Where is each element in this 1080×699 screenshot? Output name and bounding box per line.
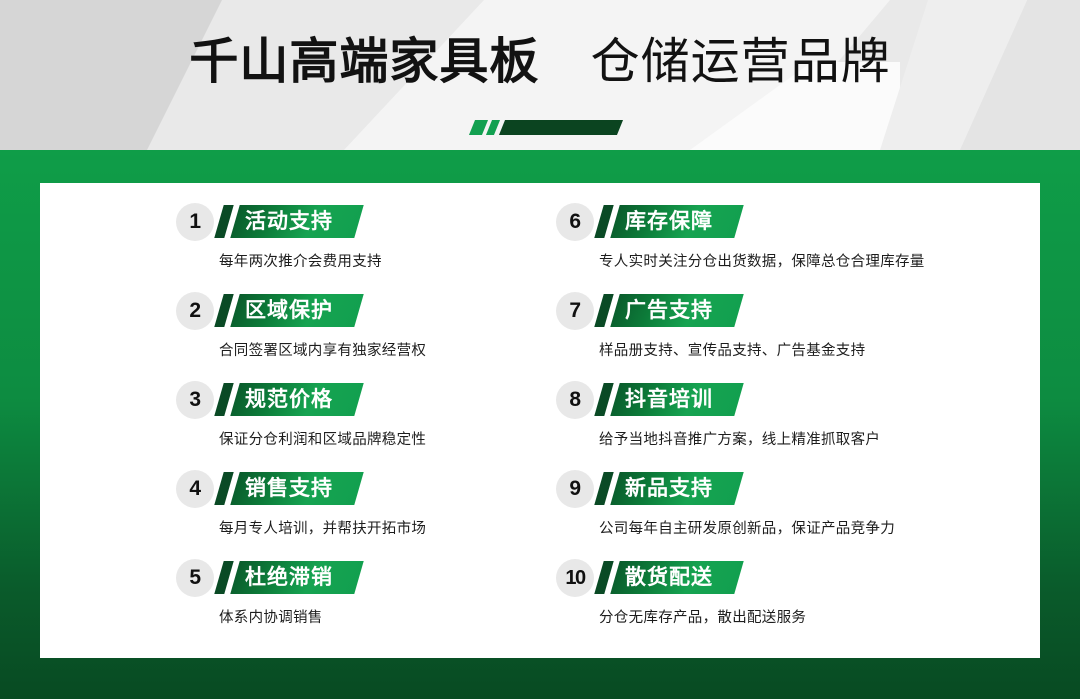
item-number-badge: 1 bbox=[176, 203, 214, 241]
list-item-header: 4 销售支持 bbox=[176, 470, 576, 512]
item-description: 专人实时关注分仓出货数据，保障总仓合理库存量 bbox=[599, 250, 925, 271]
list-item[interactable]: 1 活动支持 每年两次推介会费用支持 bbox=[176, 203, 576, 292]
list-item[interactable]: 3 规范价格 保证分仓利润和区域品牌稳定性 bbox=[176, 381, 576, 470]
list-item-header: 1 活动支持 bbox=[176, 203, 576, 245]
item-description: 给予当地抖音推广方案，线上精准抓取客户 bbox=[599, 428, 880, 449]
list-item[interactable]: 10 散货配送 分仓无库存产品，散出配送服务 bbox=[556, 559, 1026, 648]
item-description: 样品册支持、宣传品支持、广告基金支持 bbox=[599, 339, 865, 360]
item-number-badge: 4 bbox=[176, 470, 214, 508]
list-item[interactable]: 4 销售支持 每月专人培训，并帮扶开拓市场 bbox=[176, 470, 576, 559]
title-underline-decoration bbox=[472, 120, 620, 135]
item-description: 体系内协调销售 bbox=[219, 606, 323, 627]
page-title-main: 千山高端家具板 bbox=[189, 35, 539, 89]
item-description: 每月专人培训，并帮扶开拓市场 bbox=[219, 517, 426, 538]
item-title: 广告支持 bbox=[625, 294, 727, 327]
list-item[interactable]: 5 杜绝滞销 体系内协调销售 bbox=[176, 559, 576, 648]
item-description: 每年两次推介会费用支持 bbox=[219, 250, 382, 271]
item-title: 散货配送 bbox=[625, 561, 727, 594]
item-number-badge: 6 bbox=[556, 203, 594, 241]
page-title: 千山高端家具板 仓储运营品牌 bbox=[0, 36, 1080, 90]
item-description: 合同签署区域内享有独家经营权 bbox=[219, 339, 426, 360]
list-item-header: 6 库存保障 bbox=[556, 203, 1026, 245]
content-card: 1 活动支持 每年两次推介会费用支持 2 区域保护 bbox=[40, 183, 1040, 658]
list-item-header: 2 区域保护 bbox=[176, 292, 576, 334]
item-title: 区域保护 bbox=[245, 294, 347, 327]
poster-root: 千山高端家具板 仓储运营品牌 1 活动支持 每年两次 bbox=[0, 0, 1080, 699]
item-number-badge: 9 bbox=[556, 470, 594, 508]
list-item-header: 9 新品支持 bbox=[556, 470, 1026, 512]
list-item[interactable]: 6 库存保障 专人实时关注分仓出货数据，保障总仓合理库存量 bbox=[556, 203, 1026, 292]
item-description: 公司每年自主研发原创新品，保证产品竞争力 bbox=[599, 517, 895, 538]
list-item[interactable]: 8 抖音培训 给予当地抖音推广方案，线上精准抓取客户 bbox=[556, 381, 1026, 470]
item-title: 抖音培训 bbox=[625, 383, 727, 416]
page-title-sub: 仓储运营品牌 bbox=[591, 35, 891, 89]
benefits-column-left: 1 活动支持 每年两次推介会费用支持 2 区域保护 bbox=[176, 203, 576, 648]
item-number-badge: 7 bbox=[556, 292, 594, 330]
item-number-badge: 2 bbox=[176, 292, 214, 330]
list-item[interactable]: 7 广告支持 样品册支持、宣传品支持、广告基金支持 bbox=[556, 292, 1026, 381]
item-number-badge: 8 bbox=[556, 381, 594, 419]
list-item-header: 7 广告支持 bbox=[556, 292, 1026, 334]
item-title: 销售支持 bbox=[245, 472, 347, 505]
item-number-badge: 5 bbox=[176, 559, 214, 597]
list-item-header: 10 散货配送 bbox=[556, 559, 1026, 601]
list-item-header: 5 杜绝滞销 bbox=[176, 559, 576, 601]
list-item[interactable]: 2 区域保护 合同签署区域内享有独家经营权 bbox=[176, 292, 576, 381]
item-title: 规范价格 bbox=[245, 383, 347, 416]
item-title: 库存保障 bbox=[625, 205, 727, 238]
item-description: 分仓无库存产品，散出配送服务 bbox=[599, 606, 806, 627]
item-title: 新品支持 bbox=[625, 472, 727, 505]
item-number-badge: 10 bbox=[556, 559, 594, 597]
list-item[interactable]: 9 新品支持 公司每年自主研发原创新品，保证产品竞争力 bbox=[556, 470, 1026, 559]
list-item-header: 3 规范价格 bbox=[176, 381, 576, 423]
item-title: 杜绝滞销 bbox=[245, 561, 347, 594]
item-number-badge: 3 bbox=[176, 381, 214, 419]
header-banner: 千山高端家具板 仓储运营品牌 bbox=[0, 0, 1080, 150]
item-title: 活动支持 bbox=[245, 205, 347, 238]
title-underline-segment-1 bbox=[469, 120, 488, 135]
item-description: 保证分仓利润和区域品牌稳定性 bbox=[219, 428, 426, 449]
benefits-column-right: 6 库存保障 专人实时关注分仓出货数据，保障总仓合理库存量 7 广告支持 bbox=[556, 203, 1026, 648]
title-underline-segment-2 bbox=[486, 120, 500, 135]
title-underline-segment-3 bbox=[499, 120, 623, 135]
list-item-header: 8 抖音培训 bbox=[556, 381, 1026, 423]
